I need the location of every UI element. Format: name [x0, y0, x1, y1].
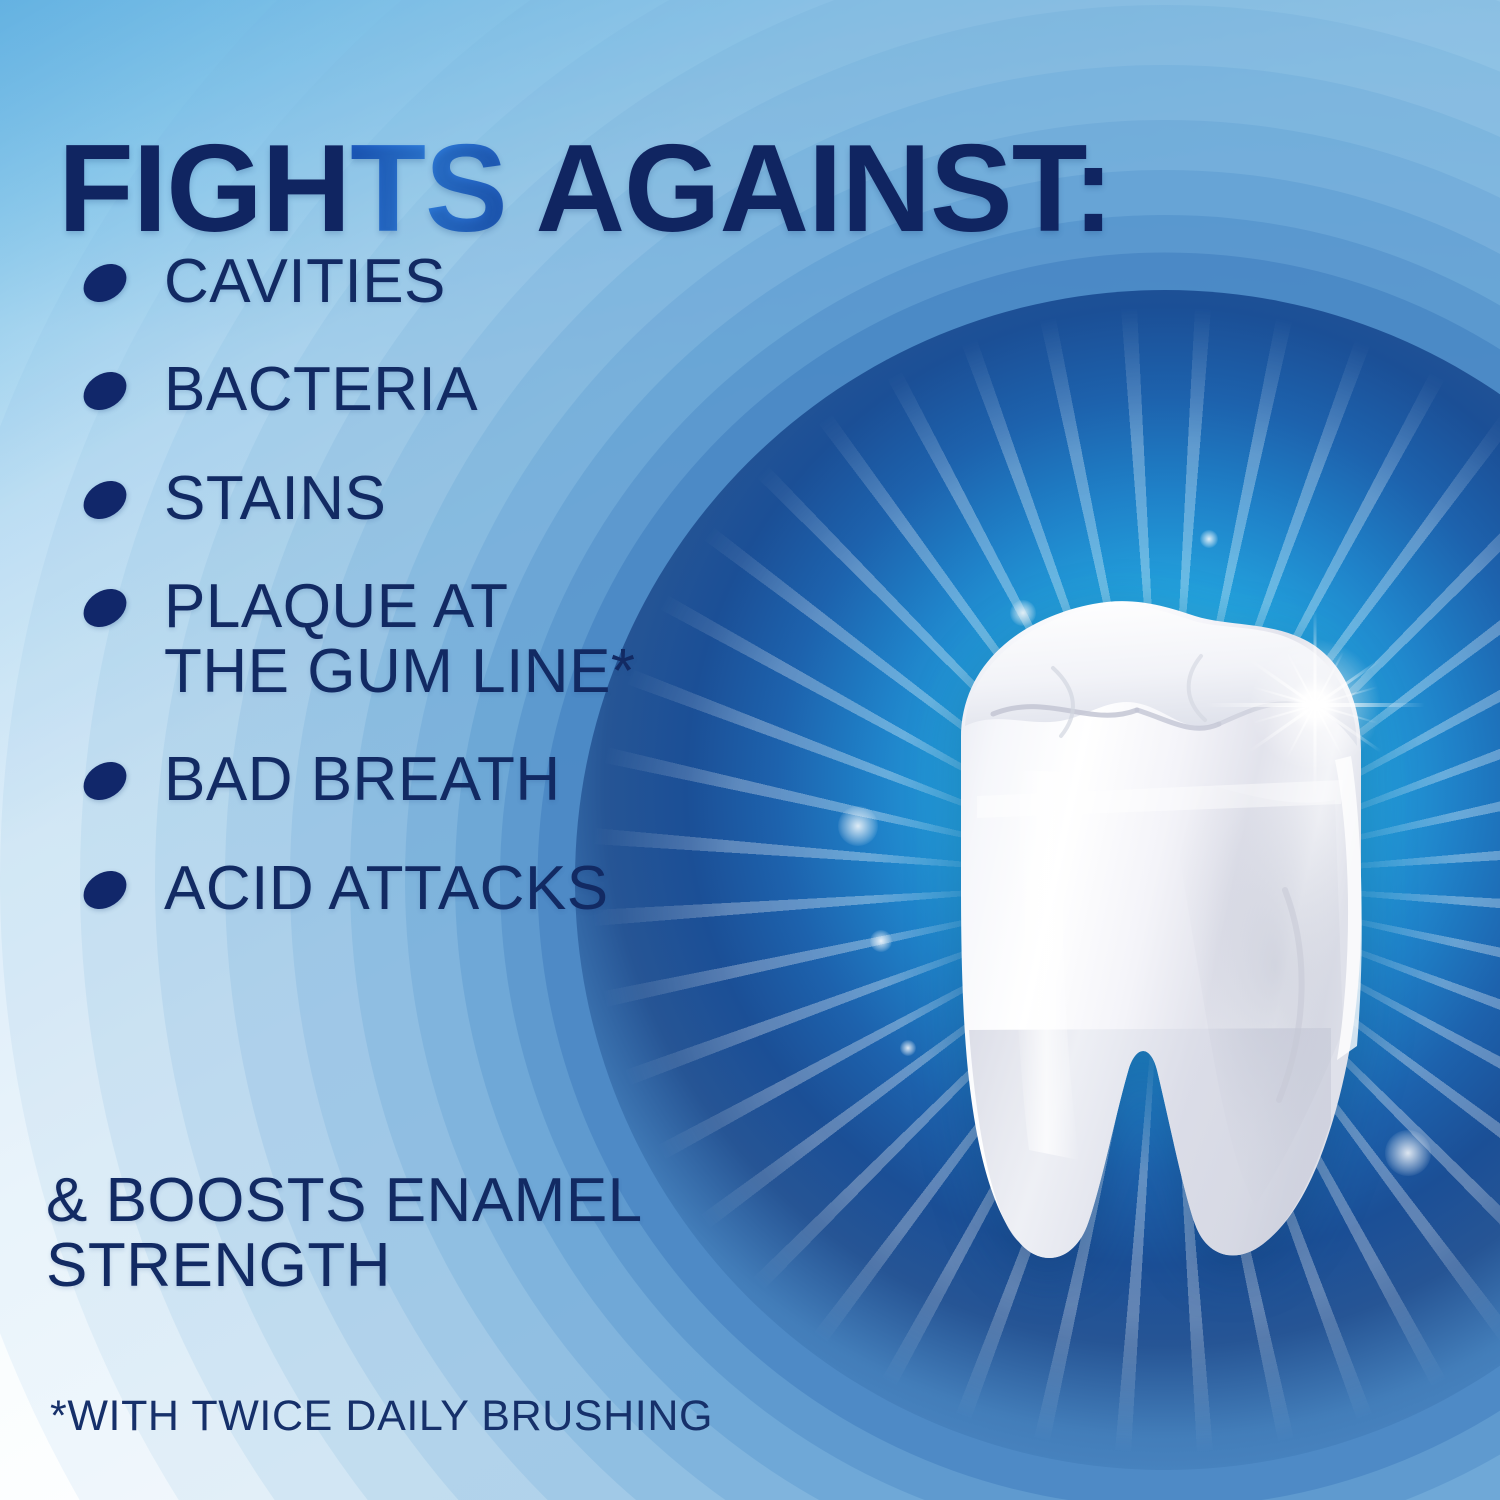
list-item-label: PLAQUE AT THE GUM LINE* — [164, 575, 636, 704]
list-item: STAINS — [82, 467, 922, 531]
list-item-label: ACID ATTACKS — [164, 857, 609, 921]
headline-accent-ts: TS — [350, 120, 506, 258]
fights-against-list: CAVITIES BACTERIA STAINS PLAQUE AT THE G… — [82, 250, 922, 965]
list-item: PLAQUE AT THE GUM LINE* — [82, 575, 922, 704]
oval-bullet-icon — [76, 582, 133, 636]
footnote-disclaimer: *WITH TWICE DAILY BRUSHING — [50, 1392, 713, 1441]
list-item-label: BACTERIA — [164, 358, 478, 422]
list-item-label: CAVITIES — [164, 250, 446, 314]
headline-part-1: FIGH — [58, 120, 350, 258]
list-item: ACID ATTACKS — [82, 857, 922, 921]
list-item: BAD BREATH — [82, 748, 922, 812]
oval-bullet-icon — [76, 365, 133, 419]
list-item: BACTERIA — [82, 358, 922, 422]
list-item-label: STAINS — [164, 467, 386, 531]
oval-bullet-icon — [76, 473, 133, 527]
boost-enamel-statement: & BOOSTS ENAMEL STRENGTH — [46, 1168, 926, 1298]
product-claim-poster: FIGHTS AGAINST: CAVITIES BACTERIA STAINS… — [0, 0, 1500, 1500]
page-title: FIGHTS AGAINST: — [58, 127, 1113, 251]
bokeh-dot — [1200, 530, 1218, 548]
list-item: CAVITIES — [82, 250, 922, 314]
oval-bullet-icon — [76, 256, 133, 310]
oval-bullet-icon — [76, 755, 133, 809]
list-item-label: BAD BREATH — [164, 748, 561, 812]
headline-part-3: AGAINST: — [507, 120, 1113, 258]
molar-tooth-illustration — [865, 560, 1425, 1280]
oval-bullet-icon — [76, 863, 133, 917]
